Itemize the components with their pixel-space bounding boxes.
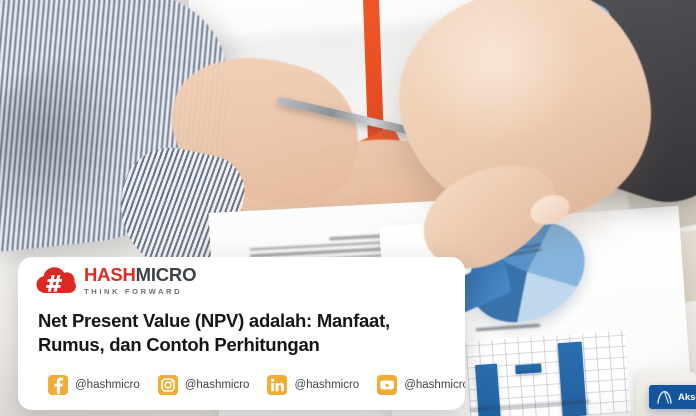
- hashmicro-logo[interactable]: HASHMICRO THINK FORWARD: [36, 266, 196, 296]
- instagram-icon: [158, 375, 178, 395]
- logo-tagline: THINK FORWARD: [84, 288, 196, 296]
- akselerasi-arc-icon: [656, 390, 673, 405]
- linkedin-icon: [267, 375, 287, 395]
- logo-hash-text: HASH: [84, 264, 136, 285]
- youtube-icon: [377, 375, 397, 395]
- linkedin-handle: @hashmicro: [294, 379, 359, 391]
- facebook-icon: [48, 375, 68, 395]
- akselerasi-label: Aksele: [678, 392, 696, 403]
- cloud-hash-icon: [36, 266, 76, 296]
- social-links-row: @hashmicro @hashmicro: [48, 375, 465, 395]
- social-link-youtube[interactable]: @hashmicro: [377, 375, 465, 395]
- page-title: Net Present Value (NPV) adalah: Manfaat,…: [38, 309, 450, 358]
- social-link-facebook[interactable]: @hashmicro: [48, 375, 140, 395]
- akselerasi-badge[interactable]: Aksele: [649, 385, 696, 409]
- social-link-linkedin[interactable]: @hashmicro: [267, 375, 359, 395]
- facebook-handle: @hashmicro: [75, 379, 140, 391]
- youtube-handle: @hashmicro: [404, 379, 465, 391]
- instagram-handle: @hashmicro: [185, 379, 250, 391]
- logo-micro-text: MICRO: [136, 264, 197, 285]
- content-card: HASHMICRO THINK FORWARD Net Present Valu…: [18, 257, 465, 410]
- screenshot-root: HASHMICRO THINK FORWARD Net Present Valu…: [0, 0, 696, 416]
- logo-wordmark: HASHMICRO THINK FORWARD: [84, 266, 196, 295]
- social-link-instagram[interactable]: @hashmicro: [158, 375, 250, 395]
